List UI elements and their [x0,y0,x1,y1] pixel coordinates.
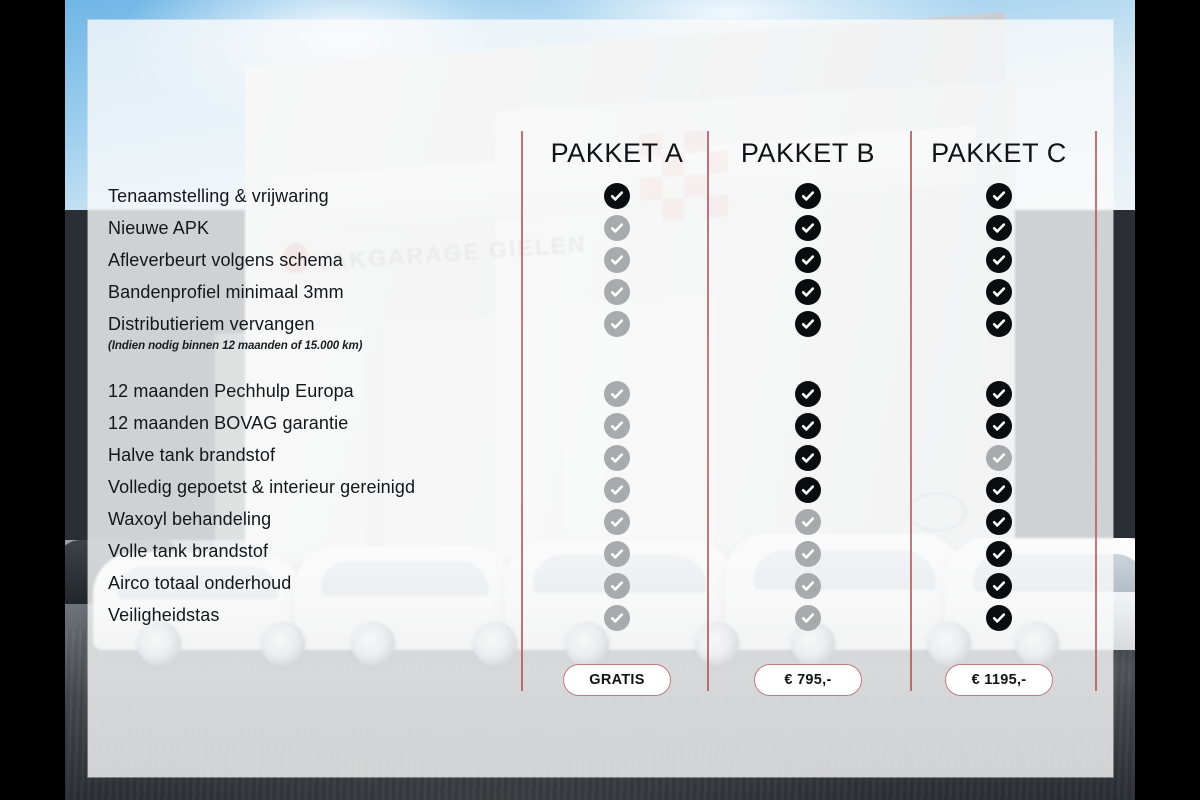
check-circle-icon [604,183,630,209]
check-circle-icon [986,279,1012,305]
check-circle-icon [604,477,630,503]
feature-label: Distributieriem vervangen [108,314,315,335]
check-column-pakket-c [906,180,1092,634]
price-button-pakket-b[interactable]: € 795,- [754,664,862,696]
check-circle-icon [795,509,821,535]
check-cell [715,378,901,410]
check-cell [524,212,710,244]
feature-row: Nieuwe APK [108,212,528,244]
check-circle-icon [986,605,1012,631]
feature-label: Tenaamstelling & vrijwaring [108,186,329,207]
check-cell [524,180,710,212]
group-spacer [715,358,901,378]
check-cell [715,474,901,506]
check-circle-icon [795,215,821,241]
check-circle-icon [604,247,630,273]
feature-label: 12 maanden BOVAG garantie [108,413,348,434]
check-cell [906,442,1092,474]
check-circle-icon [986,247,1012,273]
feature-row: Tenaamstelling & vrijwaring [108,180,528,212]
check-column-pakket-b [715,180,901,634]
check-circle-icon [986,509,1012,535]
feature-label: Volledig gepoetst & interieur gereinigd [108,477,415,498]
feature-row: Afleverbeurt volgens schema [108,244,528,276]
check-circle-icon [604,605,630,631]
check-cell [524,442,710,474]
check-circle-icon [986,413,1012,439]
check-circle-icon [986,541,1012,567]
check-circle-icon [986,445,1012,471]
check-circle-icon [604,381,630,407]
check-cell [524,474,710,506]
feature-row: Airco totaal onderhoud [108,567,528,599]
check-circle-icon [604,215,630,241]
check-cell [715,180,901,212]
check-cell [906,180,1092,212]
check-cell [524,244,710,276]
check-circle-icon [795,247,821,273]
column-header-pakket-a: PAKKET A [524,138,710,169]
check-cell [906,212,1092,244]
check-circle-icon [795,183,821,209]
check-circle-icon [795,445,821,471]
check-cell [906,506,1092,538]
check-circle-icon [986,215,1012,241]
check-cell [715,538,901,570]
check-cell [715,244,901,276]
check-cell [906,602,1092,634]
check-cell [906,538,1092,570]
check-cell [715,410,901,442]
check-circle-icon [795,605,821,631]
check-cell [524,506,710,538]
check-cell [524,308,710,340]
check-cell [906,308,1092,340]
check-cell [906,244,1092,276]
check-cell [715,308,901,340]
feature-row: Volledig gepoetst & interieur gereinigd [108,471,528,503]
check-circle-icon [795,413,821,439]
feature-label: 12 maanden Pechhulp Europa [108,381,354,402]
feature-label: Afleverbeurt volgens schema [108,250,343,271]
feature-label: Bandenprofiel minimaal 3mm [108,282,344,303]
check-cell [524,378,710,410]
group-spacer [108,355,528,375]
check-circle-icon [604,541,630,567]
check-cell [906,474,1092,506]
check-cell [715,276,901,308]
feature-label: Nieuwe APK [108,218,209,239]
check-cell [906,378,1092,410]
check-circle-icon [604,279,630,305]
pricing-table-card: PAKKET A PAKKET B PAKKET C Tenaamstellin… [88,20,1113,777]
price-button-pakket-c[interactable]: € 1195,- [945,664,1053,696]
check-circle-icon [986,311,1012,337]
check-circle-icon [795,541,821,567]
check-cell [524,276,710,308]
check-cell [524,538,710,570]
check-cell [715,570,901,602]
feature-row: 12 maanden Pechhulp Europa [108,375,528,407]
column-header-pakket-b: PAKKET B [715,138,901,169]
price-button-pakket-a[interactable]: GRATIS [563,664,671,696]
feature-row: Bandenprofiel minimaal 3mm [108,276,528,308]
check-cell [715,212,901,244]
check-circle-icon [795,477,821,503]
check-cell [524,570,710,602]
check-cell [906,276,1092,308]
check-circle-icon [604,311,630,337]
check-cell [906,570,1092,602]
check-circle-icon [795,381,821,407]
check-cell [715,442,901,474]
feature-footnote: (Indien nodig binnen 12 maanden of 15.00… [108,337,528,355]
check-circle-icon [604,573,630,599]
check-circle-icon [604,445,630,471]
check-circle-icon [795,311,821,337]
feature-label: Veiligheidstas [108,605,219,626]
feature-row: Volle tank brandstof [108,535,528,567]
feature-label: Waxoyl behandeling [108,509,271,530]
check-cell [906,410,1092,442]
feature-row: 12 maanden BOVAG garantie [108,407,528,439]
feature-label: Airco totaal onderhoud [108,573,291,594]
check-circle-icon [986,381,1012,407]
feature-label: Volle tank brandstof [108,541,268,562]
check-column-pakket-a [524,180,710,634]
check-cell [715,506,901,538]
check-cell [524,602,710,634]
feature-label: Halve tank brandstof [108,445,275,466]
footnote-spacer [715,340,901,358]
column-divider [1095,131,1097,691]
check-circle-icon [795,573,821,599]
check-circle-icon [795,279,821,305]
group-spacer [906,358,1092,378]
check-circle-icon [986,183,1012,209]
check-cell [715,602,901,634]
feature-row: Veiligheidstas [108,599,528,631]
footnote-spacer [524,340,710,358]
feature-row: Waxoyl behandeling [108,503,528,535]
check-circle-icon [986,573,1012,599]
check-circle-icon [986,477,1012,503]
group-spacer [524,358,710,378]
check-cell [524,410,710,442]
feature-row: Distributieriem vervangen [108,308,528,340]
feature-label-list: Tenaamstelling & vrijwaring Nieuwe APK A… [108,180,528,631]
check-circle-icon [604,509,630,535]
check-circle-icon [604,413,630,439]
screenshot-stage: VAKGARAGE GIELEN PAKKET A PAKKET B PAKKE… [0,0,1200,800]
footnote-spacer [906,340,1092,358]
feature-row: Halve tank brandstof [108,439,528,471]
column-header-pakket-c: PAKKET C [906,138,1092,169]
